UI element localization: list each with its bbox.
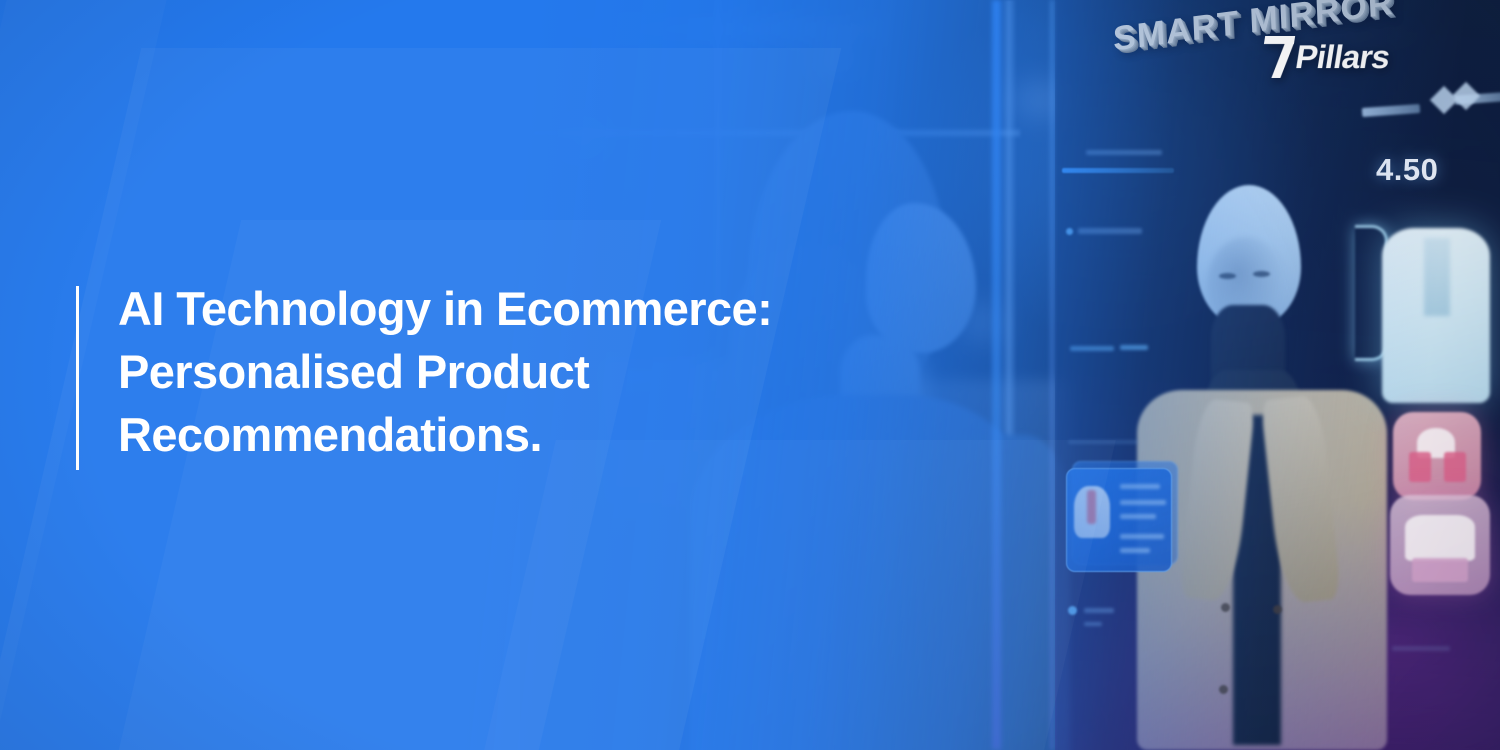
blog-hero-banner: 4.50 AI Technology in Ecommerce: Persona… bbox=[0, 0, 1500, 750]
logo-seven-mark bbox=[1259, 36, 1295, 76]
logo-wordmark: Pillars bbox=[1293, 40, 1392, 73]
brand-logo[interactable]: Pillars bbox=[1259, 36, 1393, 76]
headline-line-2: Personalised Product bbox=[118, 341, 938, 404]
logo-seven-diagonal-stroke bbox=[1271, 42, 1294, 78]
headline-line-1: AI Technology in Ecommerce: bbox=[118, 278, 938, 341]
headline-accent-bar bbox=[76, 286, 79, 470]
page-title: AI Technology in Ecommerce: Personalised… bbox=[118, 278, 938, 467]
headline-line-3: Recommendations. bbox=[118, 404, 938, 467]
